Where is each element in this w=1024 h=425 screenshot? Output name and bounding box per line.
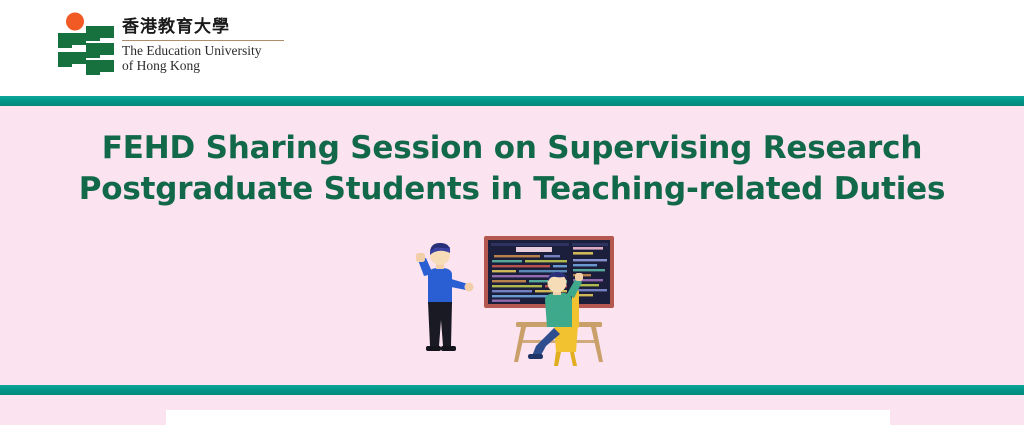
page-title-line-1: FEHD Sharing Session on Supervising Rese… — [0, 128, 1024, 169]
university-logo: 香港教育大學 The Education University of Hong … — [52, 11, 284, 75]
wordmark-divider — [122, 40, 284, 41]
content-card — [166, 410, 890, 425]
content-band: FEHD Sharing Session on Supervising Rese… — [0, 106, 1024, 385]
divider-teal-top — [0, 96, 1024, 106]
university-name-cn: 香港教育大學 — [122, 17, 284, 37]
university-wordmark: 香港教育大學 The Education University of Hong … — [122, 11, 284, 73]
classroom-teaching-illustration-icon — [404, 228, 644, 368]
page-title-line-2: Postgraduate Students in Teaching-relate… — [0, 169, 1024, 210]
poster-root: 香港教育大學 The Education University of Hong … — [0, 0, 1024, 425]
divider-teal-bottom — [0, 385, 1024, 395]
page-title: FEHD Sharing Session on Supervising Rese… — [0, 128, 1024, 210]
university-name-en-line1: The Education University — [122, 43, 284, 58]
euhk-logo-icon — [52, 11, 114, 75]
header-band: 香港教育大學 The Education University of Hong … — [0, 0, 1024, 96]
university-name-en-line2: of Hong Kong — [122, 58, 284, 73]
